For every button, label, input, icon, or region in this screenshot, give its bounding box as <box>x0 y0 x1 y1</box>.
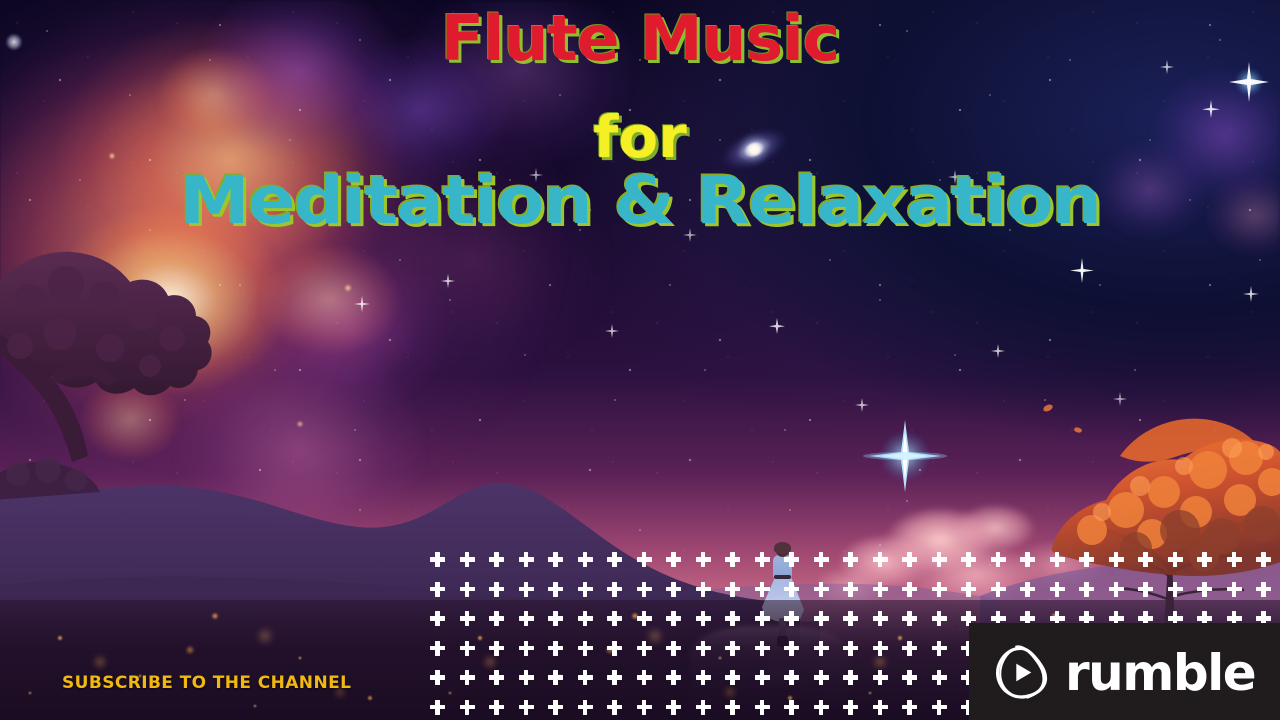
rumble-wordmark: rumble <box>1065 648 1255 698</box>
subscribe-call-to-action: SUBSCRIBE TO THE CHANNEL <box>62 673 351 693</box>
rumble-play-triangle-icon <box>991 642 1051 702</box>
video-thumbnail: Flute Music for Meditation & Relaxation … <box>0 0 1280 720</box>
girl-hair <box>774 542 791 554</box>
rumble-logo: rumble <box>969 623 1280 720</box>
girl-belt <box>774 575 791 579</box>
